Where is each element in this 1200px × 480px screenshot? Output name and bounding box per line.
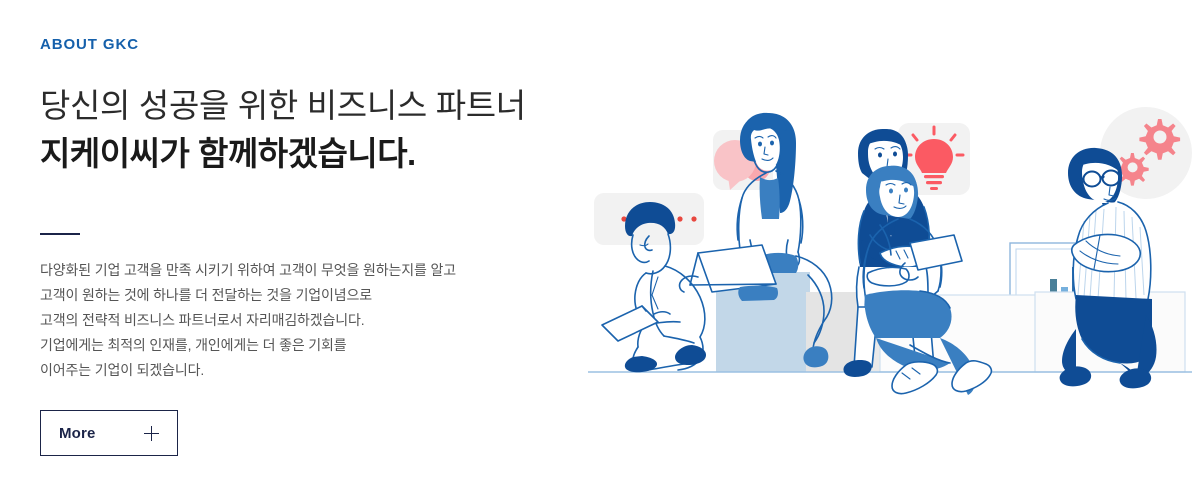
body-line: 이어주는 기업이 되겠습니다. xyxy=(40,358,560,383)
body-line: 기업에게는 최적의 인재를, 개인에게는 더 좋은 기회를 xyxy=(40,333,560,358)
section-eyebrow: ABOUT GKC xyxy=(40,36,139,54)
divider-rule xyxy=(40,233,80,235)
about-section: ABOUT GKC 당신의 성공을 위한 비즈니스 파트너 지케이씨가 함께하겠… xyxy=(0,0,1200,480)
plus-icon xyxy=(144,426,159,441)
business-team-illustration: .bl { fill:none; stroke:#1b63ad; stroke-… xyxy=(580,95,1200,395)
body-line: 다양화된 기업 고객을 만족 시키기 위하여 고객이 무엇을 원하는지를 알고 xyxy=(40,258,560,283)
more-button-label: More xyxy=(59,425,95,442)
more-button[interactable]: More xyxy=(40,410,178,456)
body-line: 고객이 원하는 것에 하나를 더 전달하는 것을 기업이념으로 xyxy=(40,283,560,308)
body-paragraph: 다양화된 기업 고객을 만족 시키기 위하여 고객이 무엇을 원하는지를 알고 … xyxy=(40,258,560,383)
headline-line-2: 지케이씨가 함께하겠습니다. xyxy=(40,130,580,178)
page-title: 당신의 성공을 위한 비즈니스 파트너 지케이씨가 함께하겠습니다. xyxy=(40,82,580,178)
headline-line-1: 당신의 성공을 위한 비즈니스 파트너 xyxy=(40,82,580,130)
body-line: 고객의 전략적 비즈니스 파트너로서 자리매김하겠습니다. xyxy=(40,308,560,333)
text-column: ABOUT GKC 당신의 성공을 위한 비즈니스 파트너 지케이씨가 함께하겠… xyxy=(40,0,580,480)
